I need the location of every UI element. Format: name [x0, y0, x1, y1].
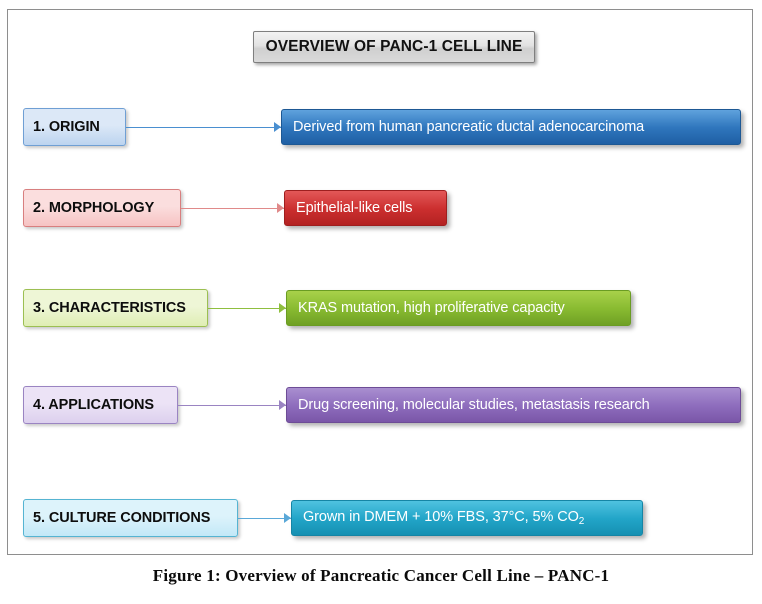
row-value-text: Grown in DMEM + 10% FBS, 37°C, 5% CO2 [303, 509, 584, 527]
arrow-connector-icon [178, 400, 286, 411]
row-label-text: 4. APPLICATIONS [33, 397, 154, 413]
row-value-text: KRAS mutation, high proliferative capaci… [298, 300, 565, 316]
arrow-connector-icon [238, 513, 291, 524]
arrow-head-icon [284, 513, 291, 523]
diagram-row: 4. APPLICATIONSDrug screening, molecular… [1, 386, 762, 426]
row-value-text: Epithelial-like cells [296, 200, 412, 216]
arrow-connector-icon [208, 303, 286, 314]
row-label-box[interactable]: 5. CULTURE CONDITIONS [23, 499, 238, 537]
row-label-text: 1. ORIGIN [33, 119, 100, 135]
diagram-row: 5. CULTURE CONDITIONSGrown in DMEM + 10%… [1, 499, 762, 539]
row-value-box[interactable]: KRAS mutation, high proliferative capaci… [286, 290, 631, 326]
row-value-subscript: 2 [579, 516, 584, 527]
arrow-connector-icon [181, 203, 284, 214]
figure-caption: Figure 1: Overview of Pancreatic Cancer … [0, 566, 762, 586]
arrow-head-icon [279, 400, 286, 410]
row-value-main: KRAS mutation, high proliferative capaci… [298, 300, 565, 316]
row-label-box[interactable]: 2. MORPHOLOGY [23, 189, 181, 227]
row-value-main: Epithelial-like cells [296, 200, 412, 216]
arrow-line [181, 208, 284, 209]
arrow-connector-icon [126, 122, 281, 133]
arrow-head-icon [274, 122, 281, 132]
row-value-box[interactable]: Epithelial-like cells [284, 190, 447, 226]
row-value-main: Derived from human pancreatic ductal ade… [293, 119, 644, 135]
row-label-text: 3. CHARACTERISTICS [33, 300, 186, 316]
figure-frame: OVERVIEW OF PANC-1 CELL LINE 1. ORIGINDe… [7, 9, 753, 555]
arrow-line [178, 405, 286, 406]
arrow-head-icon [277, 203, 284, 213]
diagram-row: 1. ORIGINDerived from human pancreatic d… [1, 108, 762, 148]
arrow-line [208, 308, 286, 309]
arrow-head-icon [279, 303, 286, 313]
row-label-box[interactable]: 4. APPLICATIONS [23, 386, 178, 424]
row-value-box[interactable]: Grown in DMEM + 10% FBS, 37°C, 5% CO2 [291, 500, 643, 536]
row-label-box[interactable]: 1. ORIGIN [23, 108, 126, 146]
diagram-title-box: OVERVIEW OF PANC-1 CELL LINE [253, 31, 535, 63]
diagram-row: 3. CHARACTERISTICSKRAS mutation, high pr… [1, 289, 762, 329]
row-value-main: Grown in DMEM + 10% FBS, 37°C, 5% CO [303, 509, 579, 525]
diagram-title: OVERVIEW OF PANC-1 CELL LINE [266, 38, 523, 56]
row-value-text: Drug screening, molecular studies, metas… [298, 397, 650, 413]
diagram-row: 2. MORPHOLOGYEpithelial-like cells [1, 189, 762, 229]
row-value-main: Drug screening, molecular studies, metas… [298, 397, 650, 413]
row-value-text: Derived from human pancreatic ductal ade… [293, 119, 644, 135]
row-label-text: 5. CULTURE CONDITIONS [33, 510, 210, 526]
row-value-box[interactable]: Drug screening, molecular studies, metas… [286, 387, 741, 423]
arrow-line [126, 127, 281, 128]
row-label-text: 2. MORPHOLOGY [33, 200, 154, 216]
row-value-box[interactable]: Derived from human pancreatic ductal ade… [281, 109, 741, 145]
row-label-box[interactable]: 3. CHARACTERISTICS [23, 289, 208, 327]
